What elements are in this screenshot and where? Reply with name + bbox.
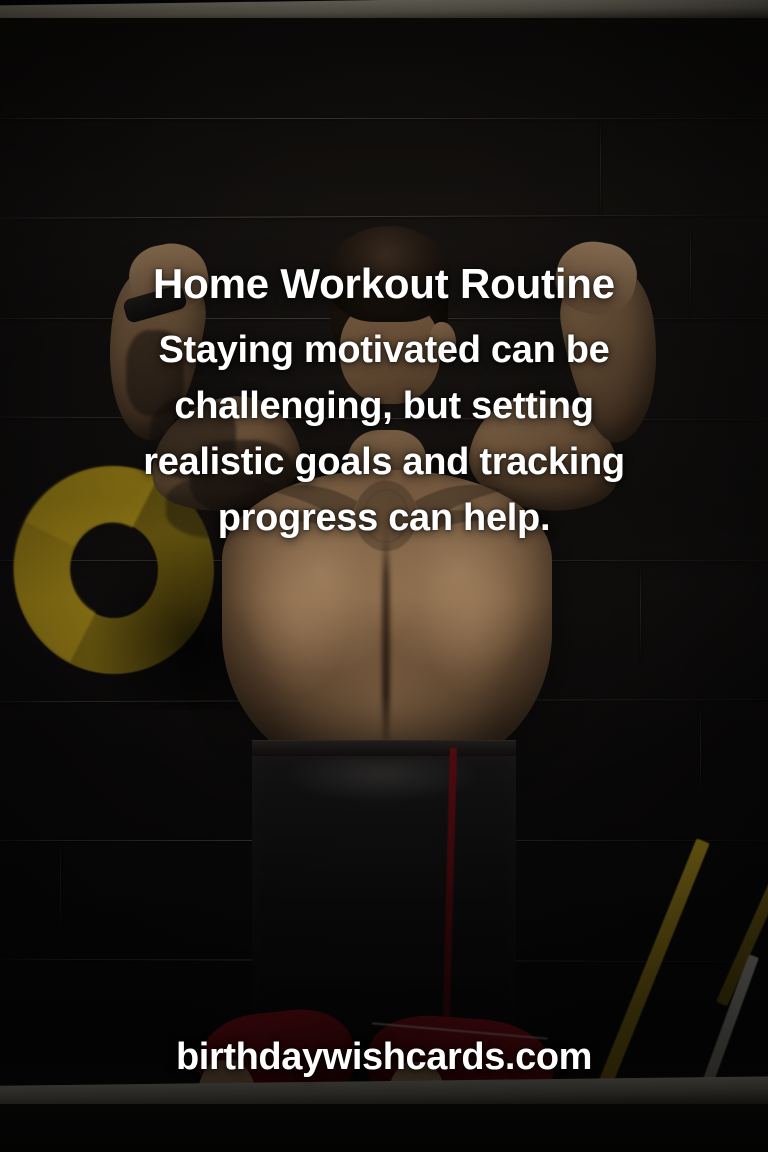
- quote-line: progress can help.: [88, 490, 680, 546]
- site-watermark: birthdaywishcards.com: [0, 1036, 768, 1079]
- pinterest-quote-card: Home Workout Routine Staying motivated c…: [0, 0, 768, 1152]
- page-title: Home Workout Routine: [0, 260, 768, 308]
- text-overlay: Home Workout Routine Staying motivated c…: [0, 0, 768, 1152]
- quote-line: challenging, but setting: [88, 378, 680, 434]
- quote-line: realistic goals and tracking: [88, 434, 680, 490]
- quote-line: Staying motivated can be: [88, 322, 680, 378]
- quote-text: Staying motivated can be challenging, bu…: [88, 322, 680, 546]
